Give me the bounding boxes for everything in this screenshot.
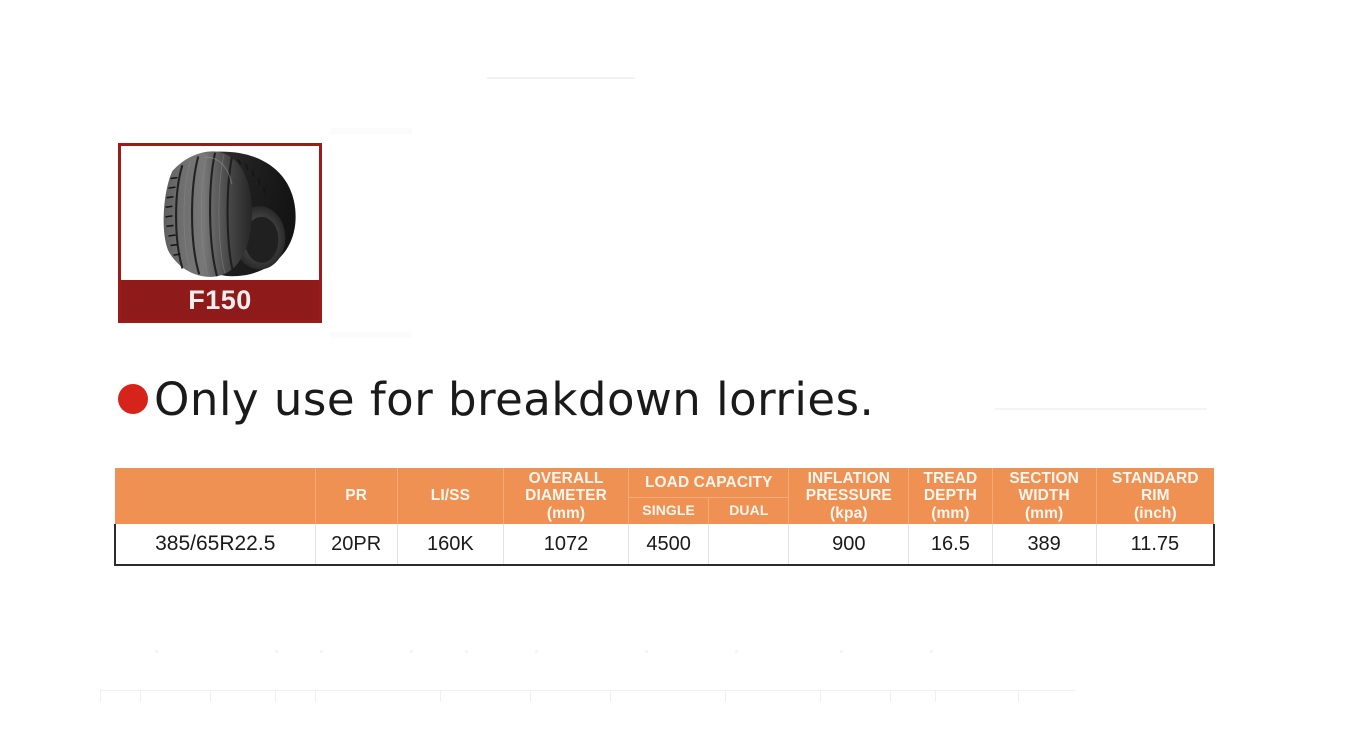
ghost-table-outline [100,690,1075,703]
header-pr: PR [315,468,397,524]
bullet-text: Only use for breakdown lorries. [154,373,874,426]
header-section-width: SECTION WIDTH (mm) [992,468,1096,524]
ghost-line-top [487,77,635,79]
truck-tire-photo [121,146,319,280]
cell-size: 385/65R22.5 [115,524,315,565]
cell-pr: 20PR [315,524,397,565]
cell-li-ss: 160K [397,524,503,565]
ghost-band-upper [330,128,412,134]
round-bullet-icon [118,384,148,414]
header-size [115,468,315,524]
product-label: F150 [121,280,319,320]
cell-section-width: 389 [992,524,1096,565]
header-inflation-pressure: INFLATION PRESSURE (kpa) [789,468,909,524]
cell-load-single: 4500 [629,524,709,565]
header-row-primary: PR LI/SS OVERALL DIAMETER (mm) LOAD CAPA… [115,468,1214,497]
cell-standard-rim: 11.75 [1096,524,1214,565]
ghost-line-right [995,408,1207,410]
header-load-single: SINGLE [629,497,709,524]
spec-table: PR LI/SS OVERALL DIAMETER (mm) LOAD CAPA… [114,468,1215,566]
product-card: F150 [118,143,322,323]
spec-table-head: PR LI/SS OVERALL DIAMETER (mm) LOAD CAPA… [115,468,1214,524]
cell-overall-diameter: 1072 [504,524,629,565]
cell-tread-depth: 16.5 [909,524,992,565]
header-li-ss: LI/SS [397,468,503,524]
header-tread-depth: TREAD DEPTH (mm) [909,468,992,524]
cell-inflation-pressure: 900 [789,524,909,565]
ghost-dot-row [100,650,1090,654]
header-standard-rim: STANDARD RIM (inch) [1096,468,1214,524]
ghost-band-lower [330,332,412,338]
header-load-capacity: LOAD CAPACITY [629,468,789,497]
table-row: 385/65R22.5 20PR 160K 1072 4500 900 16.5… [115,524,1214,565]
spec-table-body: 385/65R22.5 20PR 160K 1072 4500 900 16.5… [115,524,1214,565]
bullet-row: Only use for breakdown lorries. [118,368,874,430]
header-load-dual: DUAL [709,497,789,524]
header-overall-diameter: OVERALL DIAMETER (mm) [504,468,629,524]
cell-load-dual [709,524,789,565]
spec-table-wrap: PR LI/SS OVERALL DIAMETER (mm) LOAD CAPA… [114,468,1215,566]
